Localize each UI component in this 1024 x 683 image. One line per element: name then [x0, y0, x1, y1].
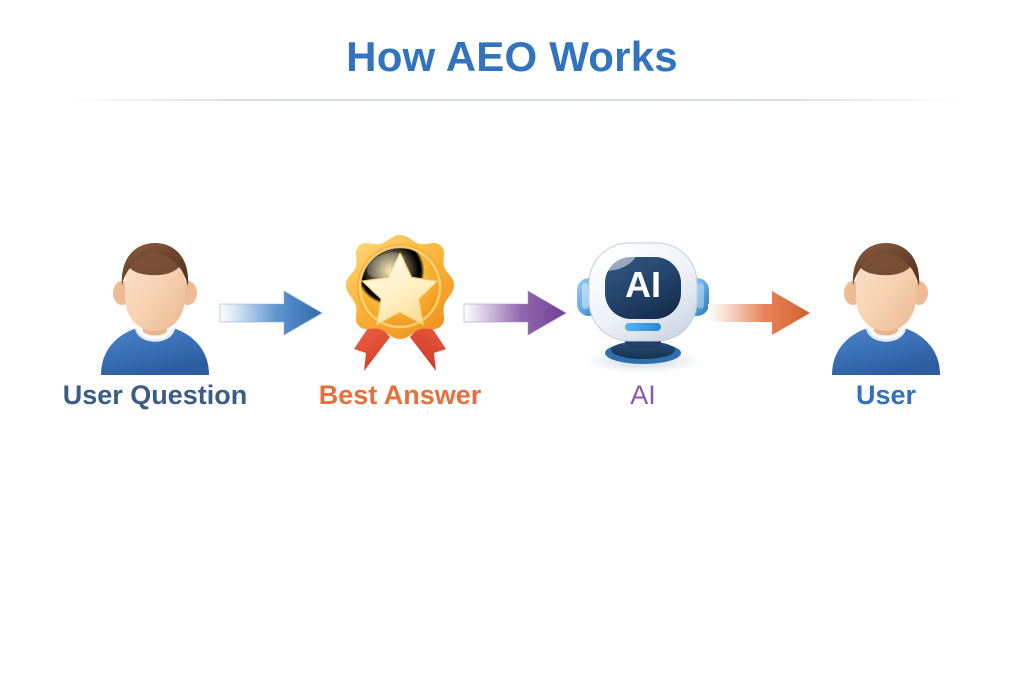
ai-robot-icon: AI [573, 233, 713, 375]
person-avatar-icon [822, 241, 950, 375]
flow-node-best-answer: Best Answer [305, 225, 495, 455]
page-title: How AEO Works [0, 34, 1024, 80]
flow-node-label: Best Answer [305, 380, 495, 411]
slide-canvas: How AEO Works [0, 0, 1024, 683]
award-badge-icon [336, 233, 464, 375]
flow-node-label: User Question [60, 380, 250, 411]
flow-node-ai: AI AI [548, 225, 738, 455]
flow-node-user: User [791, 225, 981, 455]
flow-node-label: AI [548, 380, 738, 411]
robot-screen-text: AI [625, 264, 661, 305]
icon-slot [791, 225, 981, 375]
title-divider [62, 99, 962, 101]
flow-node-label: User [791, 380, 981, 411]
flow-diagram: User Question [0, 225, 1024, 455]
person-avatar-icon [91, 241, 219, 375]
flow-node-user-question: User Question [60, 225, 250, 455]
